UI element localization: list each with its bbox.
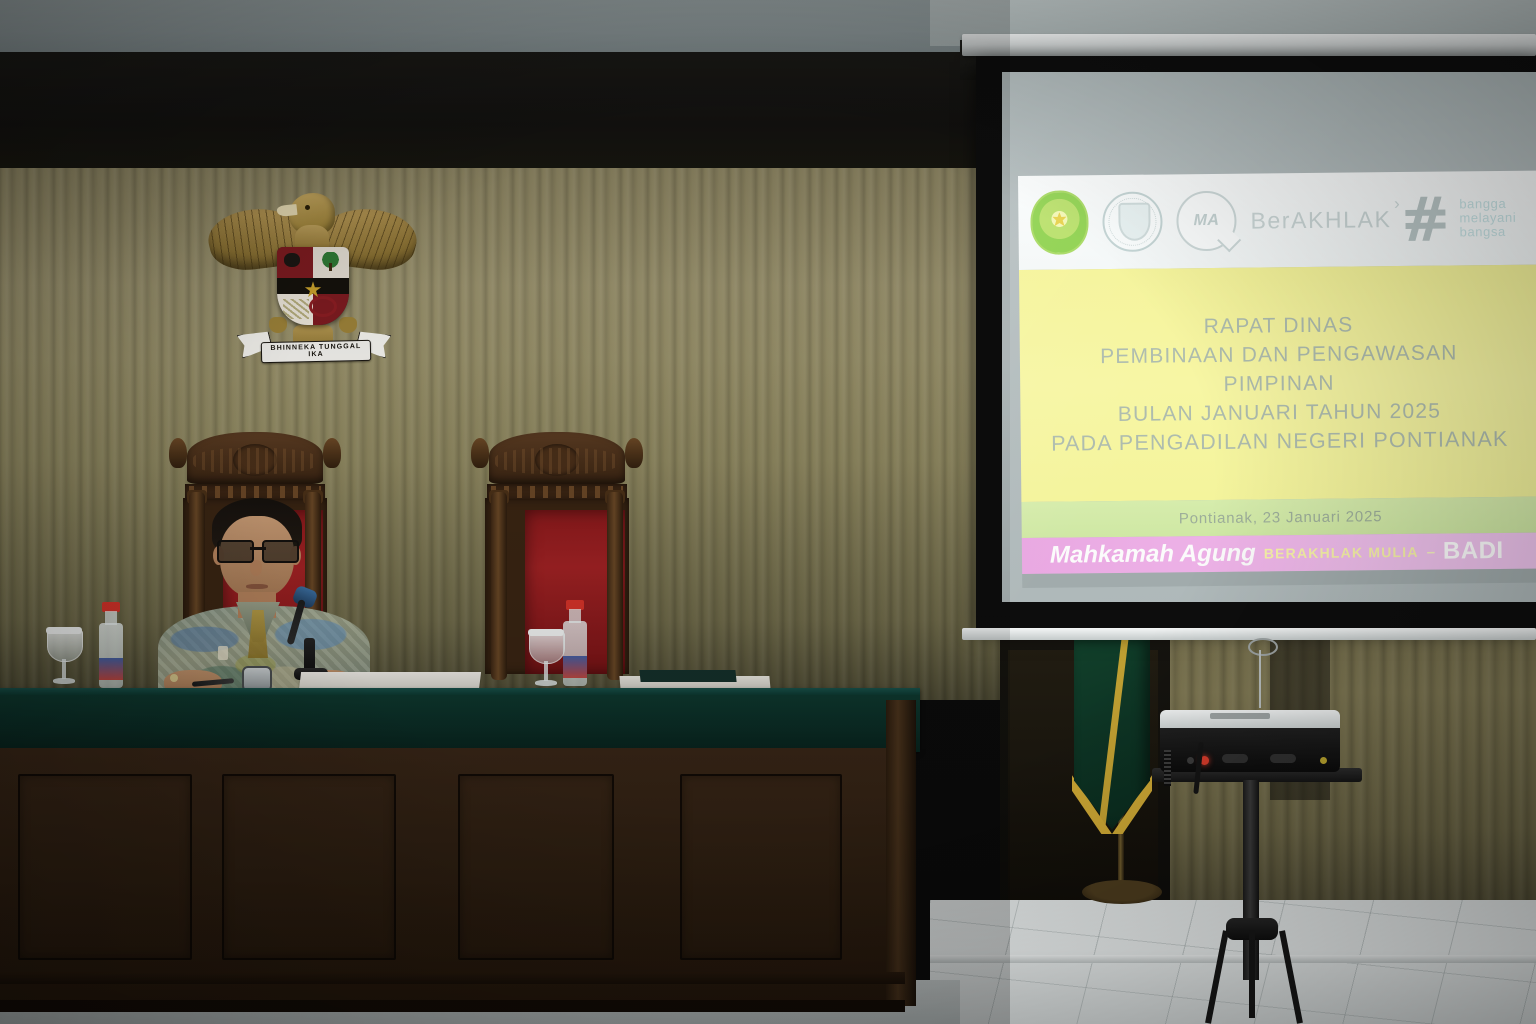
bench-green-top (0, 688, 920, 752)
berakhlak-text: BerAKHLAK (1250, 206, 1391, 233)
projector-top (1160, 710, 1340, 730)
garuda-beak (276, 204, 297, 217)
footer-truncated-word: BADI (1443, 537, 1504, 566)
bench-panel-2 (222, 774, 396, 960)
ring (170, 674, 178, 682)
slide-footer-band: Mahkamah Agung BERAKHLAK MULIA – BADI (1022, 533, 1536, 574)
shield-banyan-tree-icon (322, 252, 339, 271)
bench-foot (0, 1000, 905, 1012)
pancasila-shield (277, 247, 349, 325)
garuda-eye (305, 205, 310, 210)
bench-right-side (886, 700, 916, 1006)
garuda-pancasila-emblem: BHINNEKA TUNGGAL IKA (205, 185, 420, 370)
meeting-room-photo: BHINNEKA TUNGGAL IKA (0, 0, 1536, 1024)
slide-title-line-4: BULAN JANUARI TAHUN 2025 (1051, 395, 1509, 429)
seated-speaker (150, 498, 380, 698)
bangga-melayani-bangsa-text: bangga melayani bangsa (1459, 197, 1516, 240)
floor-step-edge (930, 955, 1536, 963)
water-glass-right (529, 632, 563, 690)
shield-rice-cotton-icon (283, 299, 309, 319)
screen-bottom-bar (962, 628, 1536, 640)
slide-date-band: Pontianak, 23 Januari 2025 (1021, 497, 1536, 538)
name-badge (218, 646, 228, 660)
bench-panel-1 (18, 774, 192, 960)
upper-wall-shadow-band (0, 52, 1000, 172)
chevron-up-icon: › (1394, 193, 1401, 213)
tripod-leg-center (1249, 930, 1255, 1018)
flag-stand-base (1082, 880, 1162, 904)
berakhlak-wordmark: BerAKHLAK › (1250, 206, 1391, 234)
bench-front-panel (0, 748, 905, 1006)
shield-badge-logo (1102, 191, 1163, 252)
footer-dash: – (1427, 543, 1436, 560)
slide-title-line-5: PADA PENGADILAN NEGERI PONTIANAK (1051, 424, 1509, 458)
projector (1160, 710, 1340, 772)
bench-panel-4 (680, 774, 842, 960)
slide-title-line-2: PEMBINAAN DAN PENGAWASAN (1050, 337, 1508, 371)
bangga-line-3: bangsa (1460, 225, 1517, 240)
emblem-motto-text: BHINNEKA TUNGGAL IKA (262, 343, 370, 359)
footer-brand: Mahkamah Agung (1050, 540, 1256, 570)
folder-on-table (639, 670, 736, 682)
slide-title-band: RAPAT DINAS PEMBINAAN DAN PENGAWASAN PIM… (1019, 265, 1536, 502)
shield-buffalo-icon (284, 253, 300, 267)
screen-roller-casing (962, 34, 1536, 56)
shield-chain-icon (309, 296, 337, 317)
green-circular-logo (1030, 190, 1089, 255)
bench-panel-3 (458, 774, 614, 960)
bench-base-rail (0, 972, 905, 984)
slide-logo-band: MA BerAKHLAK › bangga melayani bangsa (1018, 171, 1536, 270)
emblem-motto-ribbon: BHINNEKA TUNGGAL IKA (239, 329, 389, 363)
slide-title-block: RAPAT DINAS PEMBINAAN DAN PENGAWASAN PIM… (1050, 308, 1509, 458)
bench-top-highlight (0, 688, 920, 695)
water-bottle-left (99, 602, 123, 688)
mahkamah-agung-logo: MA (1176, 191, 1237, 252)
projector-vent-grill (1164, 750, 1171, 786)
water-bottle-right (563, 600, 587, 686)
screen-pull-rod (1259, 650, 1261, 708)
footer-tagline: BERAKHLAK MULIA (1264, 544, 1419, 562)
water-glass-left (47, 630, 81, 688)
projector-front-panel (1160, 728, 1340, 772)
presentation-slide: MA BerAKHLAK › bangga melayani bangsa RA… (1018, 171, 1536, 586)
eyeglasses (216, 540, 300, 559)
bangga-hash-icon (1405, 197, 1445, 241)
screen-pull-handle[interactable] (1248, 638, 1278, 656)
slide-date-text: Pontianak, 23 Januari 2025 (1179, 508, 1383, 527)
